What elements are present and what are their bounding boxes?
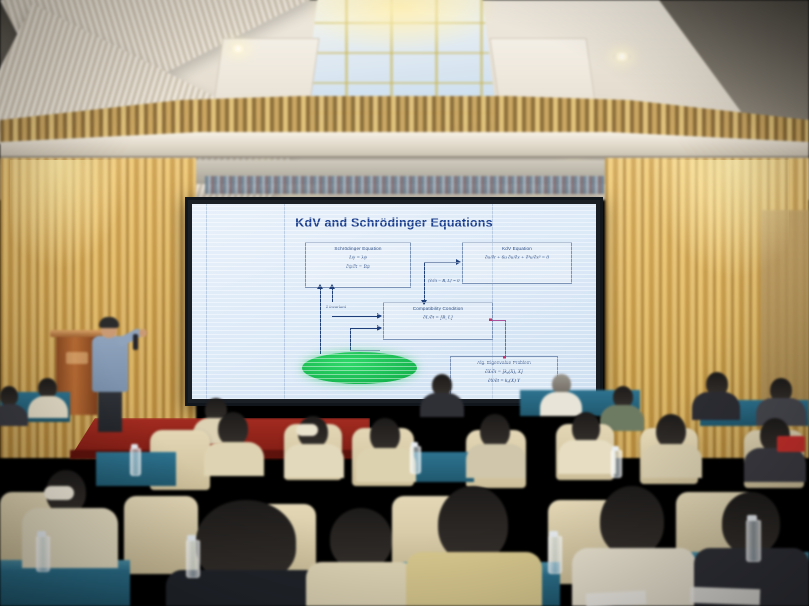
- diagram-box-schrodinger: Schrödinger Equation Lψ = λψ ∂ψ/∂t = Bψ: [305, 242, 411, 288]
- water-bottle: [746, 520, 761, 562]
- audience-shoulders: [204, 442, 264, 476]
- audience-shoulders: [466, 444, 526, 478]
- box-caption: KdV Equation: [463, 246, 571, 251]
- box-equation: ∂X/∂t = [k₀(X), X]: [451, 369, 557, 375]
- water-bottle: [186, 540, 200, 578]
- box-equation: ∂ψ/∂t = Bψ: [306, 264, 410, 270]
- slide-title: KdV and Schrödinger Equations: [192, 216, 596, 230]
- arrow-head-up-icon: [329, 284, 335, 289]
- diagram-box-kdv: KdV Equation ∂u/∂t + 6u ∂u/∂x + ∂³u/∂x³ …: [462, 242, 572, 284]
- connector-endpoint: [503, 356, 506, 359]
- label-lambda-invariant: λ invariant: [326, 304, 346, 309]
- paper-sheet: [690, 587, 761, 605]
- water-bottle: [548, 536, 562, 574]
- audience-head: [480, 414, 510, 448]
- banquet-table: [414, 452, 474, 482]
- audience-head: [370, 418, 400, 452]
- arrow-head-down-icon: [421, 300, 427, 305]
- bottle-cap: [131, 444, 138, 449]
- arrow-line: [350, 328, 351, 350]
- audience-shoulders: [692, 392, 740, 420]
- audience-shoulders: [420, 393, 464, 417]
- speaker-hair: [99, 317, 119, 328]
- water-bottle: [611, 450, 622, 478]
- label-bracket-relation: [∂/∂t − B, L] = 0: [428, 278, 459, 283]
- audience-head: [552, 374, 571, 394]
- arrow-line: [320, 288, 321, 318]
- speaker-hand: [139, 329, 147, 337]
- audience-shoulders: [540, 392, 582, 416]
- box-equation: Lψ = λψ: [306, 255, 410, 261]
- audience-shoulders: [642, 444, 702, 478]
- bottle-cap: [187, 535, 196, 541]
- audience-shoulders: [744, 448, 806, 482]
- connector-line: [505, 320, 506, 358]
- diagram-box-compatibility: Compatibility Condition ∂L/∂t = [B, L]: [383, 302, 493, 340]
- audience-head: [438, 486, 508, 562]
- bottle-cap: [747, 515, 757, 521]
- audience-shoulders: [28, 396, 68, 418]
- arrow-line: [350, 350, 380, 351]
- box-equation: ∂u/∂t + 6u ∂u/∂x + ∂³u/∂x³ = 0: [463, 255, 571, 261]
- arrow-line: [424, 262, 425, 304]
- box-caption: Alg. Eigenvalue Problem: [451, 360, 557, 365]
- downlight-icon: [229, 44, 247, 53]
- banquet-table: [0, 566, 130, 606]
- box-equation: ∂Y/∂t = k₀(X) Y: [451, 378, 557, 384]
- red-sign: [777, 436, 805, 452]
- bottle-cap: [549, 531, 558, 537]
- audience-head: [600, 486, 664, 556]
- microphone-icon: [133, 334, 138, 350]
- speaker-legs: [98, 390, 122, 432]
- audience-head: [38, 378, 57, 398]
- audience-shoulders: [356, 448, 416, 482]
- projection-screen: KdV and Schrödinger Equations Schrödinge…: [185, 197, 603, 406]
- lecture-hall-photo: KdV and Schrödinger Equations Schrödinge…: [0, 0, 809, 606]
- soffit-pattern-band: [205, 176, 605, 194]
- arrow-head-right-icon: [377, 313, 382, 319]
- audience-head: [0, 386, 18, 406]
- audience-head: [330, 508, 392, 570]
- paper-sheet: [586, 590, 647, 606]
- arrow-head-right-icon: [456, 259, 461, 265]
- slide-content: KdV and Schrödinger Equations Schrödinge…: [192, 204, 596, 399]
- arrow-line: [424, 262, 458, 263]
- arrow-line: [320, 318, 321, 354]
- audience-shoulders: [406, 552, 542, 606]
- podium-emblem: [66, 352, 88, 364]
- connector-endpoint: [489, 318, 492, 321]
- audience-head: [218, 412, 248, 446]
- downlight-icon: [613, 52, 631, 61]
- bottle-cap: [411, 442, 418, 447]
- arrow-line: [332, 316, 378, 317]
- arrow-head-up-icon: [317, 284, 323, 289]
- audience-shoulders: [284, 444, 344, 478]
- bottle-cap: [37, 531, 46, 537]
- hair-clip: [44, 486, 74, 500]
- skylight-glow: [300, 0, 500, 54]
- curtain-glow-left: [10, 160, 130, 270]
- water-bottle: [36, 536, 50, 572]
- connector-line: [491, 320, 506, 321]
- arrow-line: [332, 288, 333, 302]
- box-equation: ∂L/∂t = [B, L]: [384, 315, 492, 321]
- arrow-head-right-icon: [377, 325, 382, 331]
- audience-shoulders: [306, 562, 416, 606]
- audience-head: [656, 414, 686, 448]
- box-caption: Compatibility Condition: [384, 306, 492, 311]
- audience-shoulders: [558, 440, 616, 474]
- bottle-cap: [612, 446, 619, 451]
- water-bottle: [130, 448, 141, 476]
- green-highlight-oval: [302, 352, 417, 384]
- water-bottle: [410, 446, 421, 474]
- arrow-line: [350, 328, 378, 329]
- box-caption: Schrödinger Equation: [306, 246, 410, 251]
- hair-scrunchie: [296, 424, 318, 436]
- curtain-glow-right: [649, 160, 789, 280]
